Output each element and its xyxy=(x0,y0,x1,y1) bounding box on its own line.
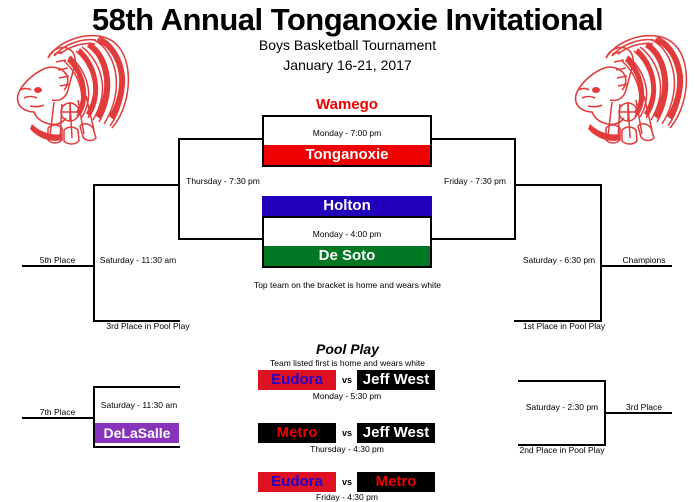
label-7th-place: 7th Place xyxy=(22,407,93,417)
pool-game-1-time: Monday - 5:30 pm xyxy=(247,391,447,401)
label-lower-left-time: Saturday - 11:30 am xyxy=(98,400,180,410)
label-semifinal-left-time: Thursday - 7:30 pm xyxy=(182,176,264,186)
bracket-line-semi-left-vertical xyxy=(178,138,180,240)
pool-play-title: Pool Play xyxy=(0,341,695,357)
bracket-line-third-place-stub xyxy=(604,412,672,414)
bracket-line-lower-right-top xyxy=(518,380,606,382)
label-1st-place-pool-play: 1st Place in Pool Play xyxy=(514,321,614,331)
pool-play-note: Team listed first is home and wears whit… xyxy=(0,358,695,368)
label-3rd-place: 3rd Place xyxy=(608,402,680,412)
pool-game-3-away: Metro xyxy=(357,472,435,492)
team-tonganoxie: Tonganoxie xyxy=(264,145,430,165)
label-final-time: Saturday - 6:30 pm xyxy=(518,255,600,265)
bracket-line-final-vertical xyxy=(600,184,602,322)
tonganoxie-chieftain-logo-icon xyxy=(2,28,130,148)
pool-game-2-away: Jeff West xyxy=(357,423,435,443)
team-holton: Holton xyxy=(262,196,432,216)
note-home-wears-white: Top team on the bracket is home and wear… xyxy=(0,279,695,292)
pool-game-2-time: Thursday - 4:30 pm xyxy=(247,444,447,454)
pool-game-3-vs: vs xyxy=(338,472,356,492)
team-de-soto: De Soto xyxy=(264,246,430,266)
bracket-line-outer-left-top xyxy=(93,184,180,186)
label-consolation-time: Saturday - 11:30 am xyxy=(98,255,178,265)
bracket-line-semi-right-bottom xyxy=(432,238,516,240)
bracket-line-outer-left-vertical xyxy=(93,184,95,322)
match-box-2: Monday - 4:00 pm De Soto xyxy=(262,216,432,268)
bracket-line-semi-right-vertical xyxy=(514,138,516,240)
bracket-line-semi-left-bottom xyxy=(178,238,262,240)
bracket-line-semi-left-top xyxy=(178,138,262,140)
label-semifinal-right-time: Friday - 7:30 pm xyxy=(434,176,516,186)
bracket-line-fifth-place-stub xyxy=(22,265,93,267)
label-5th-place: 5th Place xyxy=(22,255,93,265)
label-3rd-place-pool-play: 3rd Place in Pool Play xyxy=(98,321,198,331)
bracket-line-lower-left-top xyxy=(93,386,180,388)
pool-game-2-home: Metro xyxy=(258,423,336,443)
team-delasalle: DeLaSalle xyxy=(95,423,179,443)
team-wamego: Wamego xyxy=(262,96,432,113)
pool-game-1-vs: vs xyxy=(338,370,356,390)
bracket-line-seventh-place-stub xyxy=(22,417,93,419)
tournament-bracket-page: 58th Annual Tonganoxie Invitational Boys… xyxy=(0,0,695,500)
match-box-1: Monday - 7:00 pm Tonganoxie xyxy=(262,115,432,167)
pool-game-3-time: Friday - 4:30 pm xyxy=(247,492,447,502)
pool-game-1-away: Jeff West xyxy=(357,370,435,390)
bracket-line-champions-stub xyxy=(600,265,672,267)
pool-game-1-home: Eudora xyxy=(258,370,336,390)
tonganoxie-chieftain-logo-icon-right xyxy=(560,28,688,148)
label-2nd-place-pool-play: 2nd Place in Pool Play xyxy=(512,445,612,455)
pool-game-2-vs: vs xyxy=(338,423,356,443)
label-champions: Champions xyxy=(604,255,684,265)
label-lower-right-time: Saturday - 2:30 pm xyxy=(520,402,604,412)
bracket-line-lower-left-bottom xyxy=(93,446,180,448)
match-1-time: Monday - 7:00 pm xyxy=(264,128,430,138)
bracket-line-final-top xyxy=(514,184,602,186)
match-2-time: Monday - 4:00 pm xyxy=(264,229,430,239)
bracket-line-semi-right-top xyxy=(432,138,516,140)
pool-game-3-home: Eudora xyxy=(258,472,336,492)
